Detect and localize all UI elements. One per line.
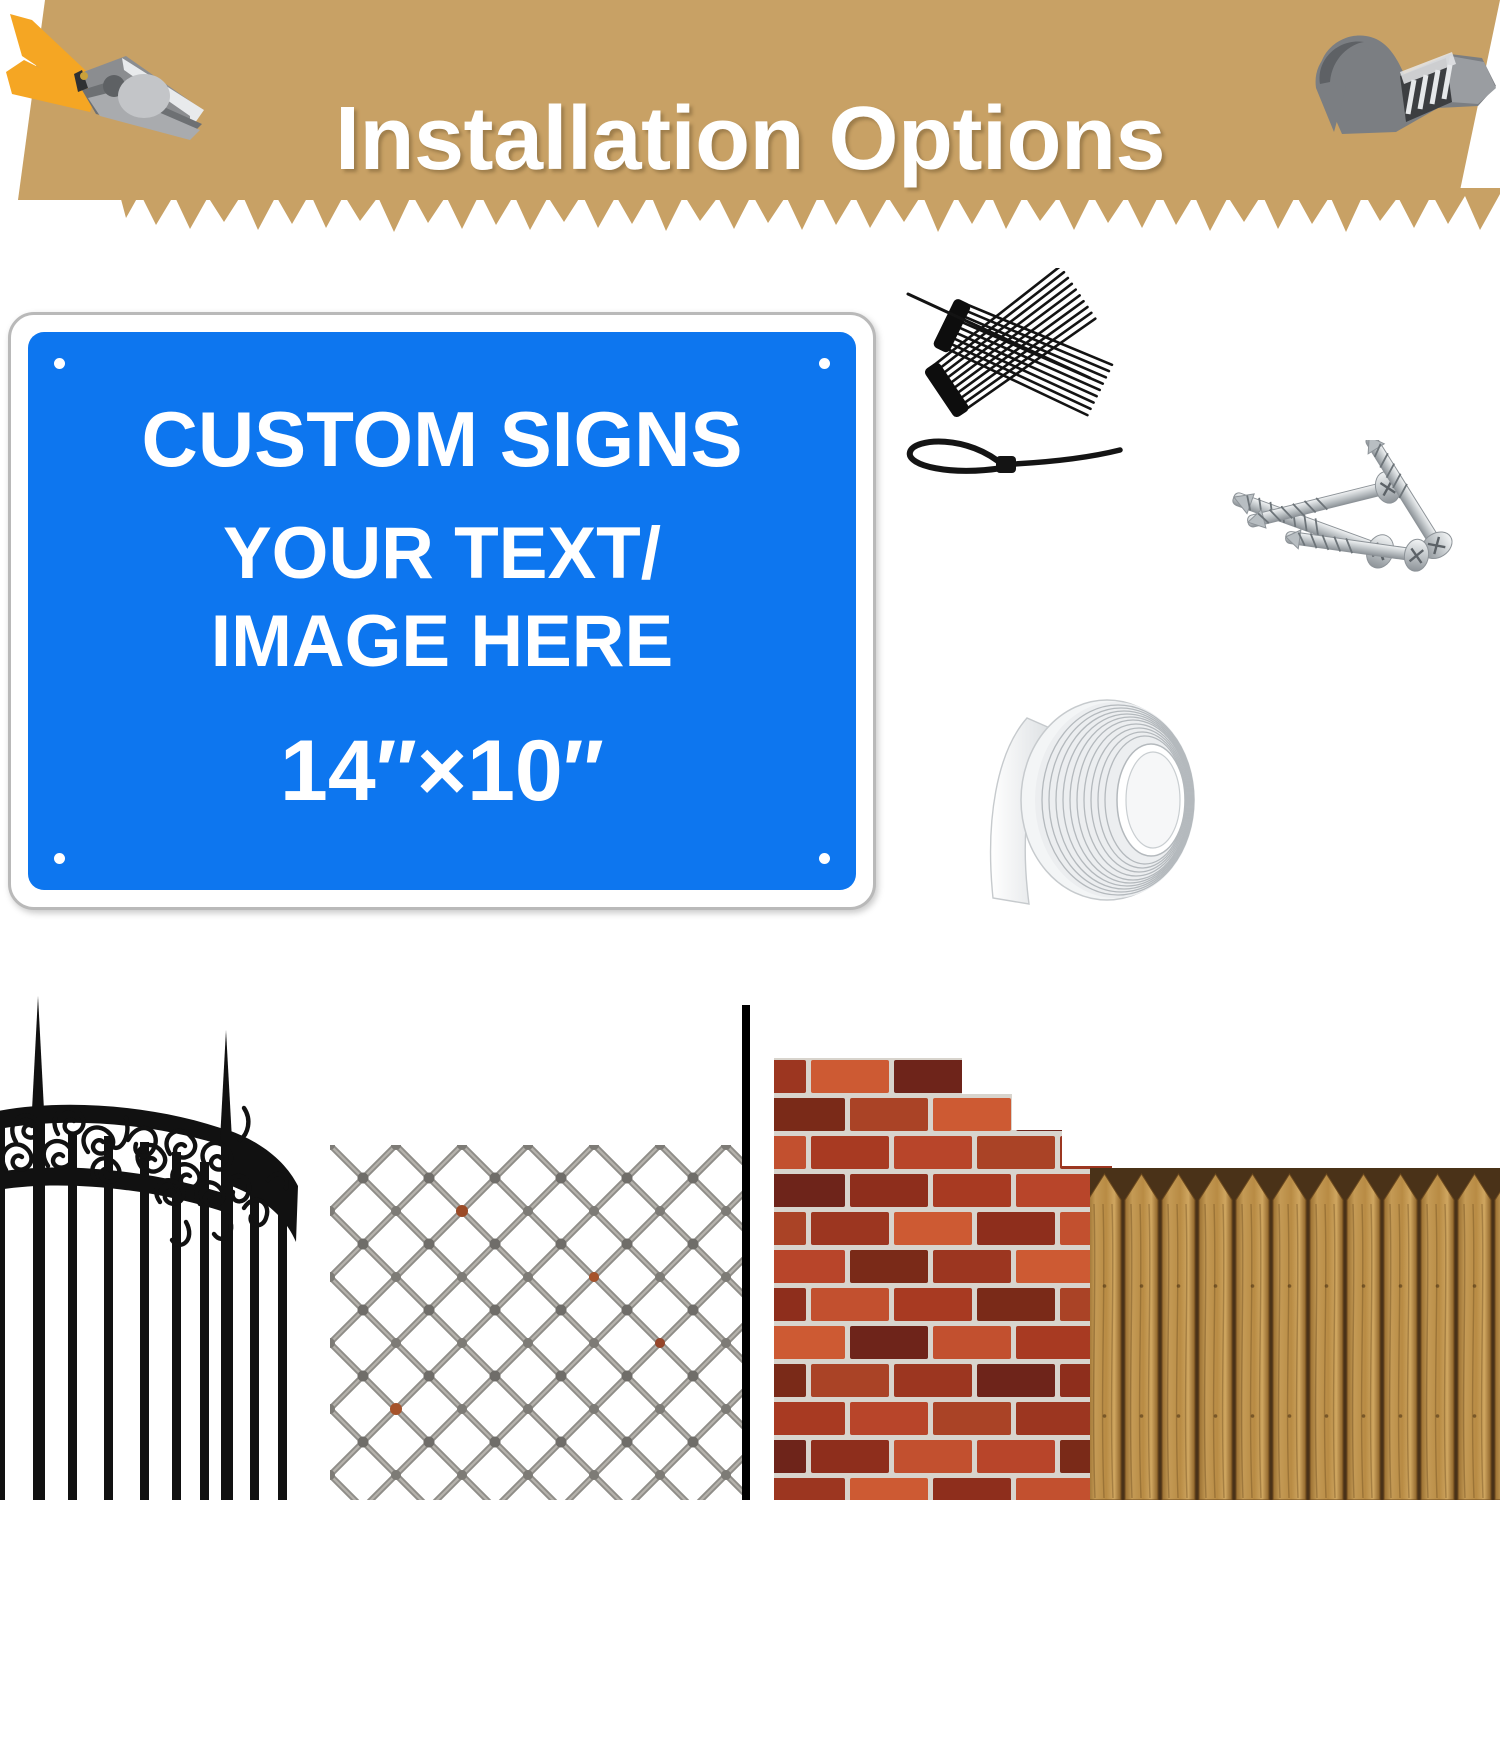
mounting-hole-icon xyxy=(54,358,65,369)
mounting-hole-icon xyxy=(819,358,830,369)
wooden-picket-fence-icon xyxy=(1090,1168,1500,1500)
wrought-iron-gate-icon xyxy=(0,990,350,1500)
sign-face: CUSTOM SIGNS YOUR TEXT/ IMAGE HERE 14″×1… xyxy=(28,332,856,890)
sign-dimensions: 14″×10″ xyxy=(28,722,856,821)
mounting-hole-icon xyxy=(54,853,65,864)
custom-sign-preview[interactable]: CUSTOM SIGNS YOUR TEXT/ IMAGE HERE 14″×1… xyxy=(8,312,876,910)
screws-icon xyxy=(1215,440,1485,595)
sign-headline: CUSTOM SIGNS xyxy=(28,394,856,485)
banner-torn-edge-icon xyxy=(0,188,1500,236)
adjustable-wrench-icon xyxy=(1300,14,1500,179)
foam-tape-roll-icon xyxy=(955,690,1225,930)
accessory-zip-ties: Zip ties (Not included) xyxy=(880,268,1140,568)
chain-link-fence-icon xyxy=(330,1145,742,1500)
accessory-foam-tape: Double Sided Foam Tape (Not included) xyxy=(955,690,1225,1040)
single-zip-tie-icon xyxy=(892,426,1128,484)
page-title: Installation Options xyxy=(0,88,1500,191)
vertical-divider xyxy=(742,1005,750,1500)
pliers-icon xyxy=(4,12,214,182)
mounting-hole-icon xyxy=(819,853,830,864)
accessory-screws: Screws (Screws/Stakes not included) xyxy=(1215,440,1485,740)
sign-subline-1: YOUR TEXT/ xyxy=(28,512,856,595)
header-banner: Installation Options xyxy=(0,0,1500,230)
sign-subline-2: IMAGE HERE xyxy=(28,600,856,683)
